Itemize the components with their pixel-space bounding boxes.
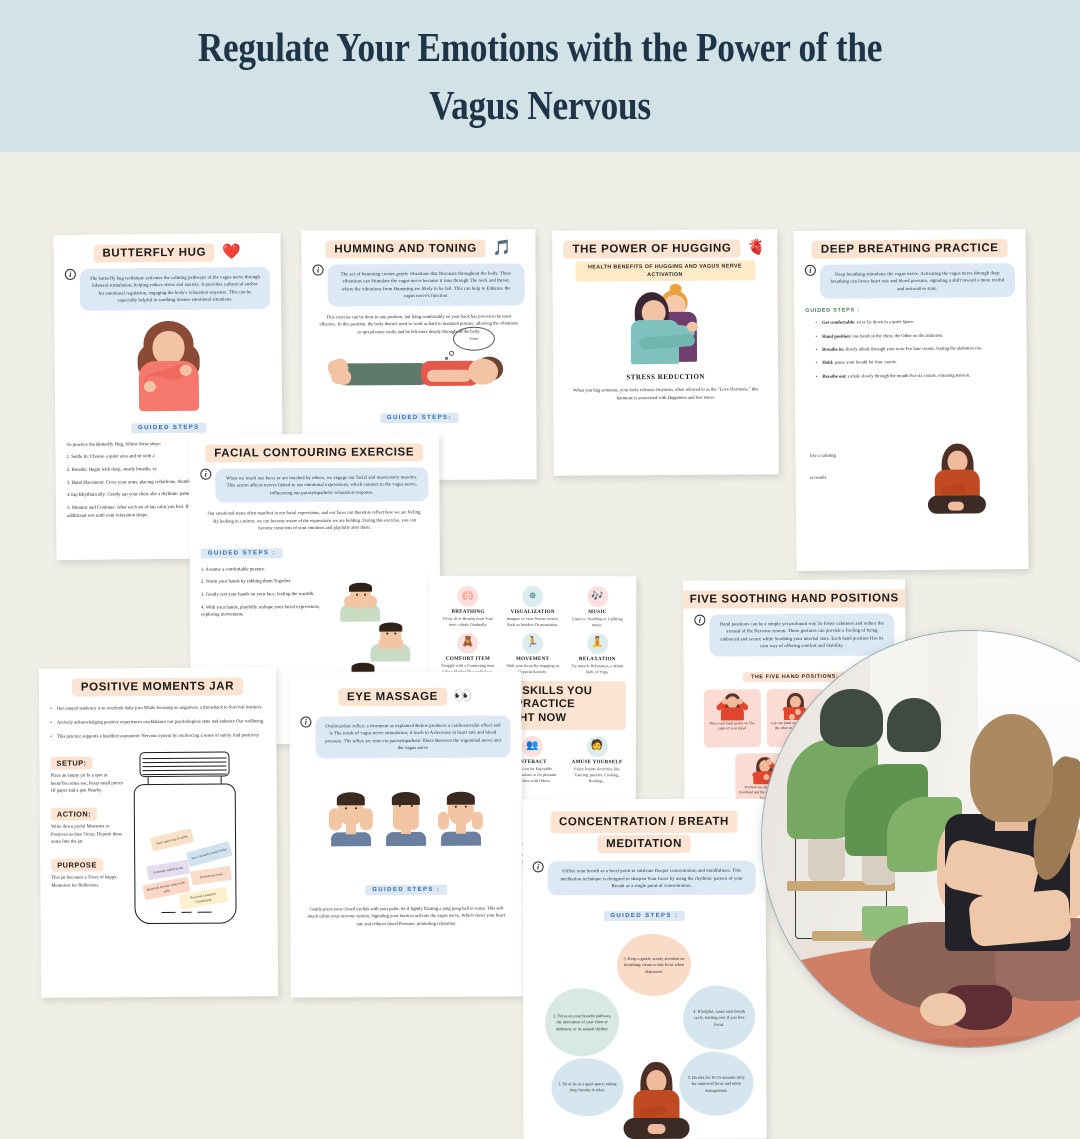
skill-movement[interactable]: 🏃 MOVEMENT Shift your focus By engaging …	[502, 632, 564, 676]
jar-purpose-heading: PURPOSE	[51, 858, 103, 871]
step-item: 1. Assume a comfortable posture.	[201, 565, 337, 574]
breathing-callout: Deep breathing stimulates the vagus nerv…	[820, 263, 1015, 299]
hand-position-1[interactable]: Place each hand gently on The sides of y…	[703, 689, 760, 747]
concentration-callout: Utilize your breath as a focal point to …	[548, 861, 756, 896]
card-power-of-hugging[interactable]: THE POWER OF HUGGING 🫀 HEALTH BENEFITS O…	[552, 229, 779, 476]
woman-meditating-photo	[761, 630, 1080, 1048]
meditating-figure	[621, 1062, 691, 1139]
humming-steps-label: GUIDED STEPS:	[380, 413, 459, 423]
pillow-icon: 🧸	[457, 633, 478, 654]
skill-amuse-yourself[interactable]: 🧑 AMUSE YOURSELF Enjoy leisure Activitie…	[566, 735, 628, 785]
interact-icon: 👥	[522, 736, 543, 757]
breathing-steps-list: •Get comfortable: sit or lie down in a q…	[805, 317, 1016, 380]
hugging-subtitle: HEALTH BENEFITS OF HUGGING AND VAGUS NER…	[575, 260, 755, 281]
humming-callout: The act of humming creates gentle vibrat…	[328, 263, 525, 306]
jar-illustration: Had a good cup of coffee Saw a beautiful…	[130, 752, 239, 928]
jar-setup-heading: SETUP:	[50, 757, 92, 770]
info-icon: i	[694, 615, 705, 626]
step-item: •Get comfortable: sit or lie down in a q…	[815, 317, 1015, 326]
movement-icon: 🏃	[522, 633, 543, 654]
card-positive-moments-jar[interactable]: POSITIVE MOMENTS JAR •Our natural tenden…	[39, 667, 278, 998]
step-item: 4. With your hands, playfully reshape yo…	[201, 604, 337, 620]
jar-note: Saw a beautiful sunset today	[186, 841, 232, 867]
step-blob-1: 1. Sit or lie in a quiet space, taking d…	[551, 1058, 623, 1116]
humming-title: HUMMING AND TONING	[325, 240, 485, 259]
skill-music[interactable]: 🎶 MUSIC Listen to Soothing or Uplifting …	[567, 585, 629, 629]
step-item: 3. Gently rest your hands on your face, …	[201, 591, 337, 600]
info-icon: i	[200, 469, 211, 480]
concentration-steps-diagram: 3. Keep a gentle, steady attention on br…	[533, 926, 757, 1123]
info-icon: i	[300, 716, 311, 727]
heart-icon: ❤️	[222, 245, 241, 260]
seated-breathing-figure	[923, 443, 990, 516]
coping-top-grid: 🫁 BREATHING Deep, slow Breaths from Your…	[437, 585, 628, 676]
worksheet-collage: BUTTERFLY HUG ❤️ i The butterfly hug tec…	[0, 152, 1080, 1080]
breathing-footer-b: er results	[810, 475, 827, 480]
breathing-footer-a: Use a calming	[809, 453, 835, 458]
eye-title: EYE MASSAGE	[338, 688, 447, 707]
humming-paragraph: This exercise can be done in any positio…	[313, 312, 525, 335]
info-icon: i	[313, 264, 324, 275]
mandala-icon: ✵	[522, 586, 543, 607]
face-touch-figure-2	[370, 621, 410, 661]
jar-note: Had a good cup of coffee	[150, 828, 194, 851]
eye-figure-3	[438, 791, 484, 845]
two-people-hugging-figure	[622, 284, 709, 365]
facial-paragraph: Our emotional states often manifest in o…	[201, 509, 429, 533]
step-blob-4: 4. If helpful, count each breath cycle, …	[683, 986, 755, 1050]
info-icon: i	[805, 265, 816, 276]
list-item: •Actively acknowledging positive experie…	[50, 718, 265, 727]
step-blob-2: 2. Focus on your breath's pathway, the m…	[545, 988, 619, 1056]
list-item: •Our natural tendency is to overlook dai…	[50, 704, 265, 713]
info-icon: i	[533, 861, 544, 872]
lying-down-figure: Mmm	[335, 339, 503, 398]
facial-callout: When we touch our faces or are touched b…	[215, 467, 428, 503]
facial-title: FACIAL CONTOURING EXERCISE	[205, 443, 423, 462]
hands-title: FIVE SOOTHING HAND POSITIONS	[683, 589, 907, 608]
skill-relaxation[interactable]: 🧘 RELAXATION Try muscle Relaxation, a Wa…	[566, 632, 628, 676]
thought-bubble: Mmm	[453, 327, 495, 351]
jar-action-heading: ACTION:	[51, 808, 97, 821]
step-item: •Breathe in: slowly inhale through your …	[816, 344, 1016, 353]
page-title-line2: Vagus Nervous	[429, 82, 651, 128]
eyes-icon: 👀	[454, 689, 473, 704]
skill-breathing[interactable]: 🫁 BREATHING Deep, slow Breaths from Your…	[437, 585, 499, 629]
breathing-title: DEEP BREATHING PRACTICE	[812, 239, 1008, 259]
jar-purpose-body: This jar becomes a Trove of happy Memori…	[51, 874, 125, 890]
jar-bullets: •Our natural tendency is to overlook dai…	[50, 704, 265, 741]
butterfly-steps-label: GUIDED STEPS	[131, 422, 207, 433]
hug-heart-icon: 🫀	[747, 241, 766, 256]
jar-sections: SETUP: Place an empty jar In a spot at h…	[50, 752, 125, 928]
eye-figure-2	[383, 792, 429, 846]
lungs-icon: 🫁	[458, 586, 479, 607]
jar-action-body: Write down joyful Moments or Positives a…	[51, 823, 125, 846]
amuse-icon: 🧑	[587, 736, 608, 757]
card-concentration-meditation[interactable]: CONCENTRATION / BREATH MEDITATION i Util…	[522, 799, 766, 1139]
step-item: •Hand position: one hand on the chest, t…	[815, 331, 1015, 340]
hugging-section-title: STRESS REDUCTION	[564, 373, 767, 382]
relaxation-icon: 🧘	[587, 633, 608, 654]
skill-visualization[interactable]: ✵ VISUALIZATION Imagine or view Serene s…	[502, 585, 564, 629]
butterfly-title: BUTTERFLY HUG	[93, 244, 215, 263]
hugging-title: THE POWER OF HUGGING	[563, 239, 740, 258]
step-item: 2. Warm your hands by rubbing them Toget…	[201, 578, 337, 587]
jar-note: Finished my book	[190, 866, 232, 886]
page-title: Regulate Your Emotions with the Power of…	[153, 18, 927, 134]
step-item: •Hold: pause your breath for four counts…	[816, 357, 1016, 366]
eye-steps-body: Gently press your closed eyelids with yo…	[301, 904, 511, 927]
step-blob-3: 3. Keep a gentle, steady attention on br…	[617, 934, 691, 996]
butterfly-hug-figure	[129, 318, 208, 411]
card-eye-massage[interactable]: EYE MASSAGE 👀 i Oculocardiac reflex: a t…	[289, 671, 523, 997]
list-item: •This practice supports a healthier auto…	[50, 732, 265, 741]
breathing-steps-label: GUIDED STEPS :	[805, 306, 1015, 314]
eye-callout: Oculocardiac reflex: a treatment as expl…	[315, 715, 510, 758]
music-icon: 🎶	[587, 586, 608, 607]
page-header: Regulate Your Emotions with the Power of…	[0, 0, 1080, 152]
page-title-line1: Regulate Your Emotions with the Power of…	[198, 24, 882, 70]
card-deep-breathing[interactable]: DEEP BREATHING PRACTICE i Deep breathing…	[794, 229, 1029, 571]
facial-steps-label: GUIDED STEPS :	[201, 548, 283, 559]
eye-steps-label: GUIDED STEPS :	[365, 885, 447, 895]
music-note-icon: 🎵	[493, 241, 512, 256]
concentration-steps-label: GUIDED STEPS :	[603, 911, 685, 921]
jar-title: POSITIVE MOMENTS JAR	[72, 677, 243, 696]
face-touch-figure-1	[340, 582, 380, 622]
jar-setup-body: Place an empty jar In a spot at homeYou …	[51, 772, 125, 795]
butterfly-callout: The butterfly hug technique activates th…	[80, 267, 270, 311]
step-item: •Breathe out: exhale slowly through the …	[816, 371, 1016, 380]
hugging-section-body: When you hug someone, your body releases…	[564, 386, 767, 402]
concentration-title-line2: MEDITATION	[597, 835, 691, 853]
facial-steps-list: 1. Assume a comfortable posture. 2. Warm…	[201, 565, 337, 619]
concentration-title-line1: CONCENTRATION / BREATH	[550, 811, 738, 834]
skill-comfort-item[interactable]: 🧸 COMFORT ITEM Snuggle with a Comforting…	[437, 632, 499, 676]
info-icon: i	[65, 269, 76, 280]
eye-figure-1	[328, 792, 374, 846]
eye-massage-figures	[301, 791, 511, 846]
